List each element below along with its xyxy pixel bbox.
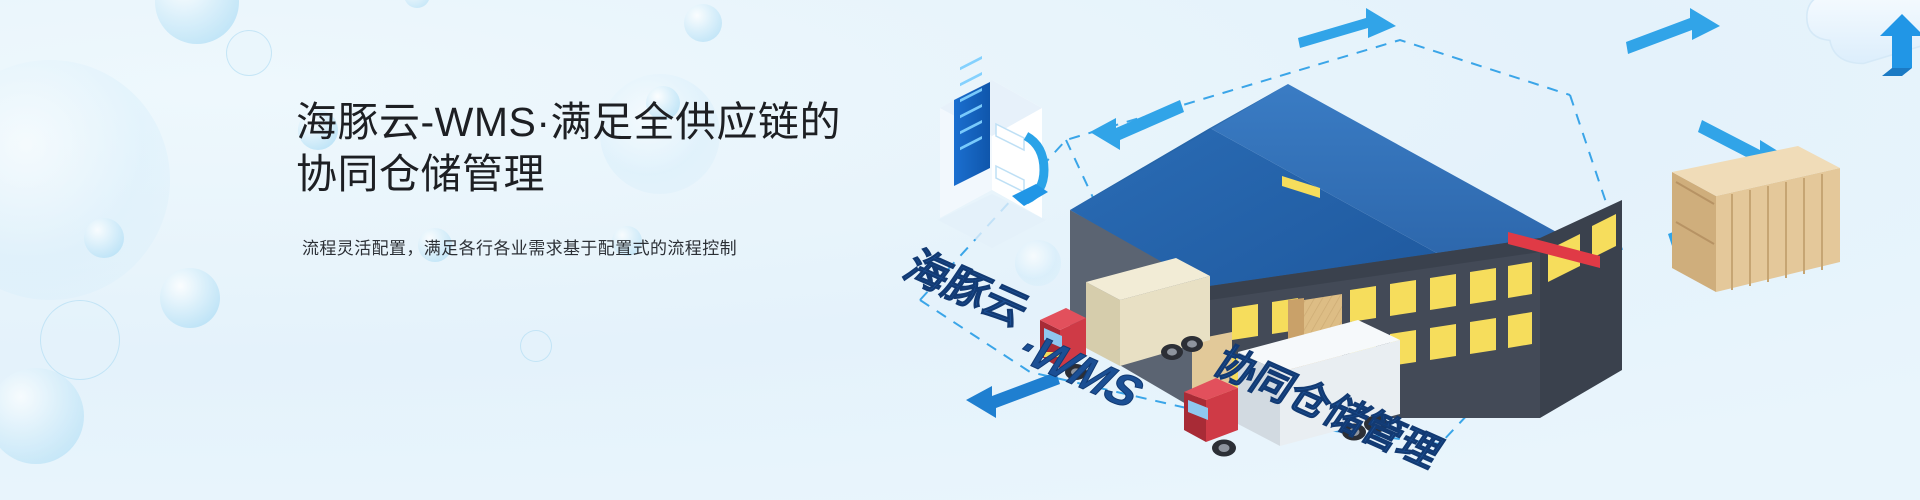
bubble-decoration <box>404 0 430 8</box>
hero-banner: 海豚云-WMS·满足全供应链的 协同仓储管理 流程灵活配置，满足各行各业需求基于… <box>0 0 1920 500</box>
hero-text-block: 海豚云-WMS·满足全供应链的 协同仓储管理 流程灵活配置，满足各行各业需求基于… <box>296 96 856 262</box>
bubble-decoration <box>40 300 120 380</box>
page-subtitle: 流程灵活配置，满足各行各业需求基于配置式的流程控制 <box>296 236 856 262</box>
bubble-decoration <box>0 368 84 464</box>
bubble-decoration <box>684 4 722 42</box>
bubble-decoration <box>0 60 170 300</box>
shipping-container <box>1672 146 1840 292</box>
warehouse-illustration: 海豚云 ·WMS 协同仓储管理 <box>880 0 1920 500</box>
page-title: 海豚云-WMS·满足全供应链的 协同仓储管理 <box>296 96 856 200</box>
cloud-upload-icon <box>1807 0 1920 76</box>
bubble-decoration <box>84 218 124 258</box>
server-rack <box>938 56 1048 248</box>
label-text-part1: 海豚云 <box>896 243 1038 333</box>
bubble-decoration <box>520 330 552 362</box>
bubble-decoration <box>160 268 220 328</box>
bubble-decoration <box>226 30 272 76</box>
bubble-decoration <box>155 0 239 44</box>
